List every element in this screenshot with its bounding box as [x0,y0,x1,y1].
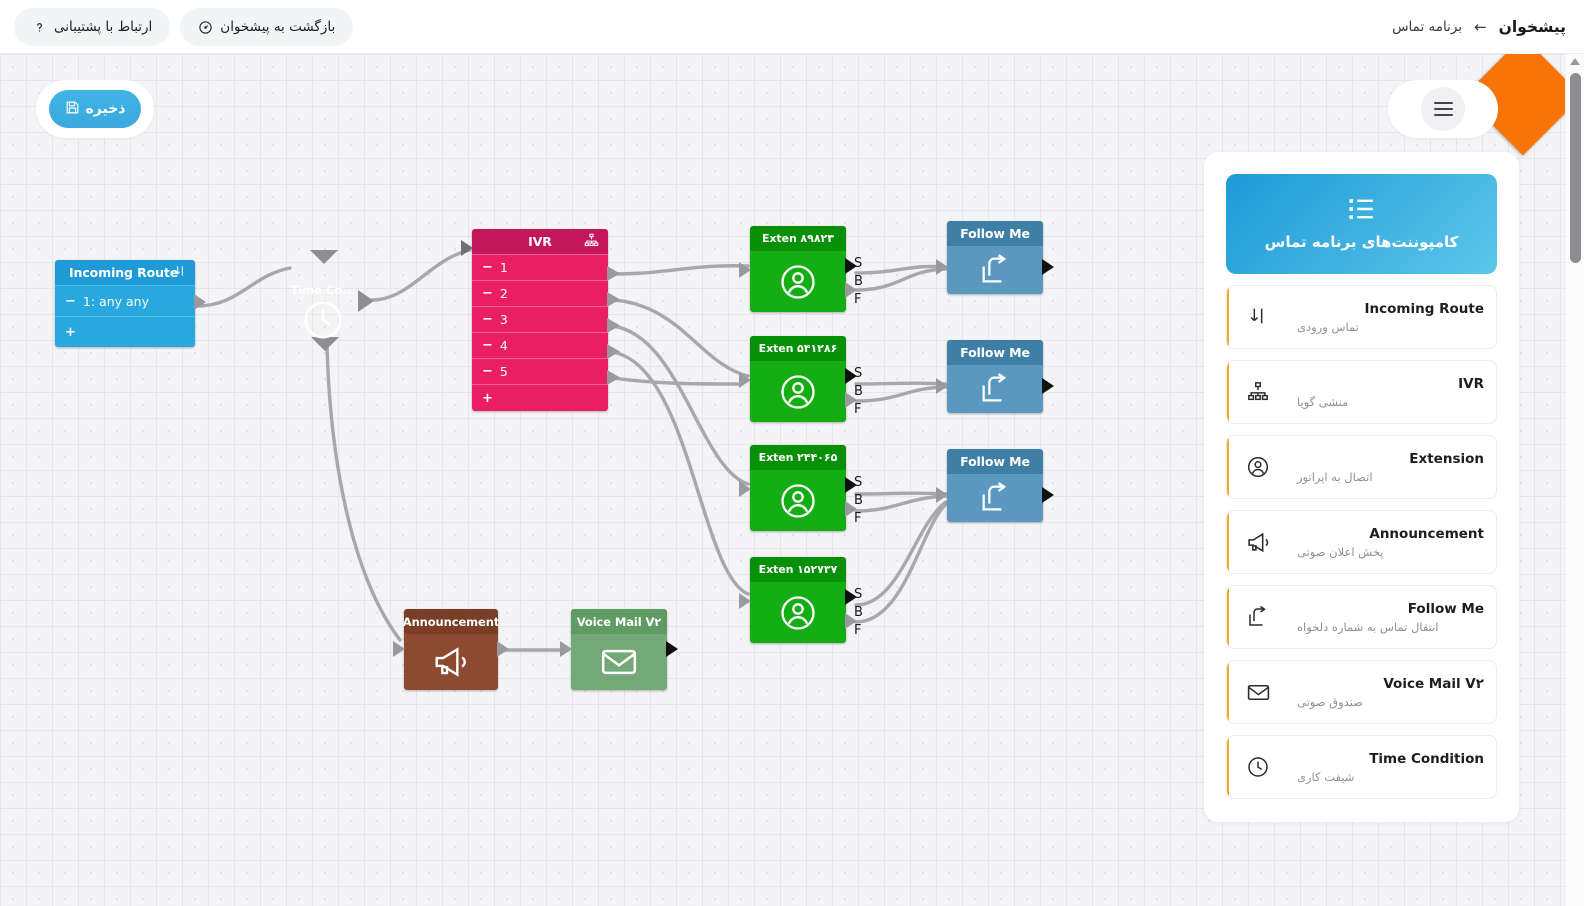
port-label-b: B [854,606,863,619]
top-header: پیشخوان ← برنامه تماس بازگشت به پیشخوان … [0,0,1584,54]
remove-row-icon[interactable]: − [482,286,493,301]
component-label-fa: پخش اعلان صوتی [1297,545,1484,559]
ivr-output-port[interactable] [607,318,620,333]
hamburger-menu-button[interactable] [1421,87,1465,131]
megaphone-icon [404,634,498,690]
node-extension-title: Exten ۵۴۱۲۸۶ [759,342,838,355]
list-icon [1347,197,1377,225]
ivr-output-port[interactable] [607,266,620,281]
remove-row-icon[interactable]: − [482,312,493,327]
components-panel-header: کامپوننت‌های برنامه تماس [1226,174,1497,274]
node-voicemail[interactable]: Voice Mail V۲ [571,609,667,690]
node-extension[interactable]: Exten ۲۴۴۰۶۵ S B F [750,445,846,531]
ivr-row[interactable]: − 3 [472,306,608,332]
floppy-disk-icon [65,100,80,119]
node-extension[interactable]: Exten ۵۴۱۲۸۶ S B F [750,336,846,422]
follow-me-input-port[interactable] [936,487,948,503]
arrow-down-into-icon [1227,286,1287,348]
component-item-announcement[interactable]: Announcement پخش اعلان صوتی [1226,510,1497,574]
add-row-icon[interactable]: + [482,391,493,406]
component-label-fa: تماس ورودی [1297,320,1484,334]
remove-row-icon[interactable]: − [482,364,493,379]
port-label-s: S [854,257,863,270]
time-condition-output-port-right[interactable] [358,290,374,312]
ivr-add-row[interactable]: + [472,384,608,411]
extension-input-port[interactable] [739,372,751,388]
port-label-f: F [854,624,863,637]
time-condition-output-port-bottom[interactable] [311,337,339,351]
node-voicemail-title-bar: Voice Mail V۲ [571,609,667,634]
breadcrumb-arrow-icon: ← [1474,18,1487,36]
node-time-condition-title: Time Co... [281,283,365,297]
scrollbar-thumb[interactable] [1570,73,1581,263]
share-forward-icon [947,365,1043,413]
node-extension-title: Exten ۲۴۴۰۶۵ [759,451,838,464]
component-item-incoming-route[interactable]: Incoming Route تماس ورودی [1226,285,1497,349]
back-to-dashboard-label: بازگشت به پیشخوان [220,19,335,35]
dashboard-gauge-icon [198,20,213,35]
node-follow-me[interactable]: Follow Me [947,449,1043,522]
canvas-menu-toolbar [1388,80,1498,138]
node-follow-me[interactable]: Follow Me [947,340,1043,413]
component-label-fa: منشی گویا [1297,395,1484,409]
remove-row-icon[interactable]: − [482,338,493,353]
node-incoming-route-header: Incoming Route [55,260,195,285]
share-forward-icon [947,246,1043,294]
extension-port-labels: S B F [854,476,863,525]
user-circle-icon [1227,436,1287,498]
ivr-row-label: 3 [500,312,508,327]
user-circle-icon [750,361,846,422]
node-ivr-header: IVR [472,229,608,254]
port-label-b: B [854,494,863,507]
follow-me-output-port[interactable] [1042,487,1054,503]
node-voicemail-title: Voice Mail V۲ [577,615,662,629]
question-mark-icon [32,20,47,35]
extension-port-labels: S B F [854,257,863,306]
node-ivr-title: IVR [528,234,552,249]
component-label-en: Time Condition [1297,751,1484,767]
ivr-row[interactable]: − 4 [472,332,608,358]
sitemap-icon [1227,361,1287,423]
port-label-f: F [854,403,863,416]
announcement-output-port[interactable] [497,641,509,657]
ivr-output-port[interactable] [607,344,620,359]
component-label-en: Follow Me [1297,601,1484,617]
incoming-route-add-row[interactable]: + [55,316,195,347]
megaphone-icon [1227,511,1287,573]
component-label-fa: صندوق صوتی [1297,695,1484,709]
node-extension-title-bar: Exten ۲۴۴۰۶۵ [750,445,846,470]
node-extension[interactable]: Exten ۱۵۲۷۳۷ S B F [750,557,846,643]
components-panel: کامپوننت‌های برنامه تماس Incoming Route … [1204,152,1519,822]
save-button-label: ذخیره [86,101,126,117]
envelope-icon [1227,661,1287,723]
user-circle-icon [750,582,846,643]
port-label-b: B [854,385,863,398]
vertical-scrollbar[interactable] [1565,54,1584,906]
node-follow-me[interactable]: Follow Me [947,221,1043,294]
port-label-s: S [854,588,863,601]
component-label-en: IVR [1297,376,1484,392]
ivr-row[interactable]: − 5 [472,358,608,384]
ivr-row[interactable]: − 2 [472,280,608,306]
contact-support-label: ارتباط با پشتیبانی [54,19,152,35]
ivr-output-port[interactable] [607,370,620,385]
voicemail-input-port[interactable] [560,641,572,657]
component-item-extension[interactable]: Extension اتصال به اپراتور [1226,435,1497,499]
ivr-row[interactable]: − 1 [472,254,608,280]
share-forward-icon [1227,586,1287,648]
component-label-fa: اتصال به اپراتور [1297,470,1484,484]
component-label-fa: شیفت کاری [1297,770,1484,784]
port-label-s: S [854,476,863,489]
ivr-input-port[interactable] [461,240,473,256]
remove-row-icon[interactable]: − [65,294,76,309]
component-label-en: Extension [1297,451,1484,467]
ivr-row-label: 4 [500,338,508,353]
breadcrumb: پیشخوان ← برنامه تماس [1392,0,1566,54]
component-item-time-condition[interactable]: Time Condition شیفت کاری [1226,735,1497,799]
user-circle-icon [750,470,846,531]
component-label-fa: انتقال تماس به شماره دلخواه [1297,620,1484,634]
add-row-icon[interactable]: + [65,325,76,340]
arrow-down-into-icon [173,264,187,282]
follow-me-input-port[interactable] [936,259,948,275]
node-extension-title-bar: Exten ۱۵۲۷۳۷ [750,557,846,582]
ivr-row-label: 1 [500,260,508,275]
follow-me-output-port[interactable] [1042,259,1054,275]
ivr-output-port[interactable] [607,292,620,307]
follow-me-input-port[interactable] [936,378,948,394]
incoming-route-output-port[interactable] [194,294,206,310]
port-label-f: F [854,293,863,306]
extension-input-port[interactable] [739,262,751,278]
breadcrumb-current[interactable]: پیشخوان [1499,18,1566,36]
node-follow-me-title-bar: Follow Me [947,449,1043,474]
component-item-follow-me[interactable]: Follow Me انتقال تماس به شماره دلخواه [1226,585,1497,649]
component-item-ivr[interactable]: IVR منشی گویا [1226,360,1497,424]
extension-input-port[interactable] [739,593,751,609]
node-incoming-route-title: Incoming Route [69,265,178,280]
save-button[interactable]: ذخیره [49,90,141,128]
clock-icon [1227,736,1287,798]
node-announcement-title: Announcement [403,615,499,629]
envelope-icon [571,634,667,690]
extension-port-labels: S B F [854,367,863,416]
contact-support-button[interactable]: ارتباط با پشتیبانی [14,8,170,46]
port-label-f: F [854,512,863,525]
node-incoming-route[interactable]: Incoming Route − 1: any any + [55,260,195,347]
component-label-en: Incoming Route [1297,301,1484,317]
node-ivr[interactable]: IVR − 1 − 2 − 3 [472,229,608,411]
node-extension-title: Exten ۱۵۲۷۳۷ [759,563,838,576]
node-announcement[interactable]: Announcement [404,609,498,690]
voicemail-output-port[interactable] [666,641,678,657]
back-to-dashboard-button[interactable]: بازگشت به پیشخوان [180,8,353,46]
incoming-route-row[interactable]: − 1: any any [55,285,195,316]
time-condition-input-port[interactable] [310,250,338,264]
node-announcement-title-bar: Announcement [404,609,498,634]
header-actions: بازگشت به پیشخوان ارتباط با پشتیبانی [14,0,353,54]
extension-port-labels: S B F [854,588,863,637]
node-extension[interactable]: Exten ۸۹۸۲۳ S B F [750,226,846,312]
port-label-b: B [854,275,863,288]
save-toolbar: ذخیره [36,80,154,138]
follow-me-output-port[interactable] [1042,378,1054,394]
user-circle-icon [750,251,846,312]
ivr-row-label: 2 [500,286,508,301]
component-label-en: Announcement [1297,526,1484,542]
component-label-en: Voice Mail V۲ [1297,676,1484,692]
port-label-s: S [854,367,863,380]
node-extension-title: Exten ۸۹۸۲۳ [762,232,834,245]
node-extension-title-bar: Exten ۵۴۱۲۸۶ [750,336,846,361]
hamburger-menu-icon [1434,102,1453,117]
node-follow-me-title-bar: Follow Me [947,221,1043,246]
breadcrumb-parent[interactable]: برنامه تماس [1392,19,1462,35]
node-follow-me-title-bar: Follow Me [947,340,1043,365]
ivr-row-label: 5 [500,364,508,379]
sitemap-icon [583,233,600,251]
flow-canvas[interactable]: Incoming Route − 1: any any + Time Co. [0,54,1565,906]
extension-input-port[interactable] [739,481,751,497]
component-item-voice-mail[interactable]: Voice Mail V۲ صندوق صوتی [1226,660,1497,724]
announcement-input-port[interactable] [393,641,405,657]
share-forward-icon [947,474,1043,522]
node-extension-title-bar: Exten ۸۹۸۲۳ [750,226,846,251]
node-follow-me-title: Follow Me [960,345,1030,360]
incoming-route-row-label: 1: any any [83,294,149,309]
node-follow-me-title: Follow Me [960,454,1030,469]
remove-row-icon[interactable]: − [482,260,493,275]
scroll-up-arrow-icon[interactable] [1570,58,1580,65]
node-follow-me-title: Follow Me [960,226,1030,241]
components-panel-title: کامپوننت‌های برنامه تماس [1265,233,1459,251]
